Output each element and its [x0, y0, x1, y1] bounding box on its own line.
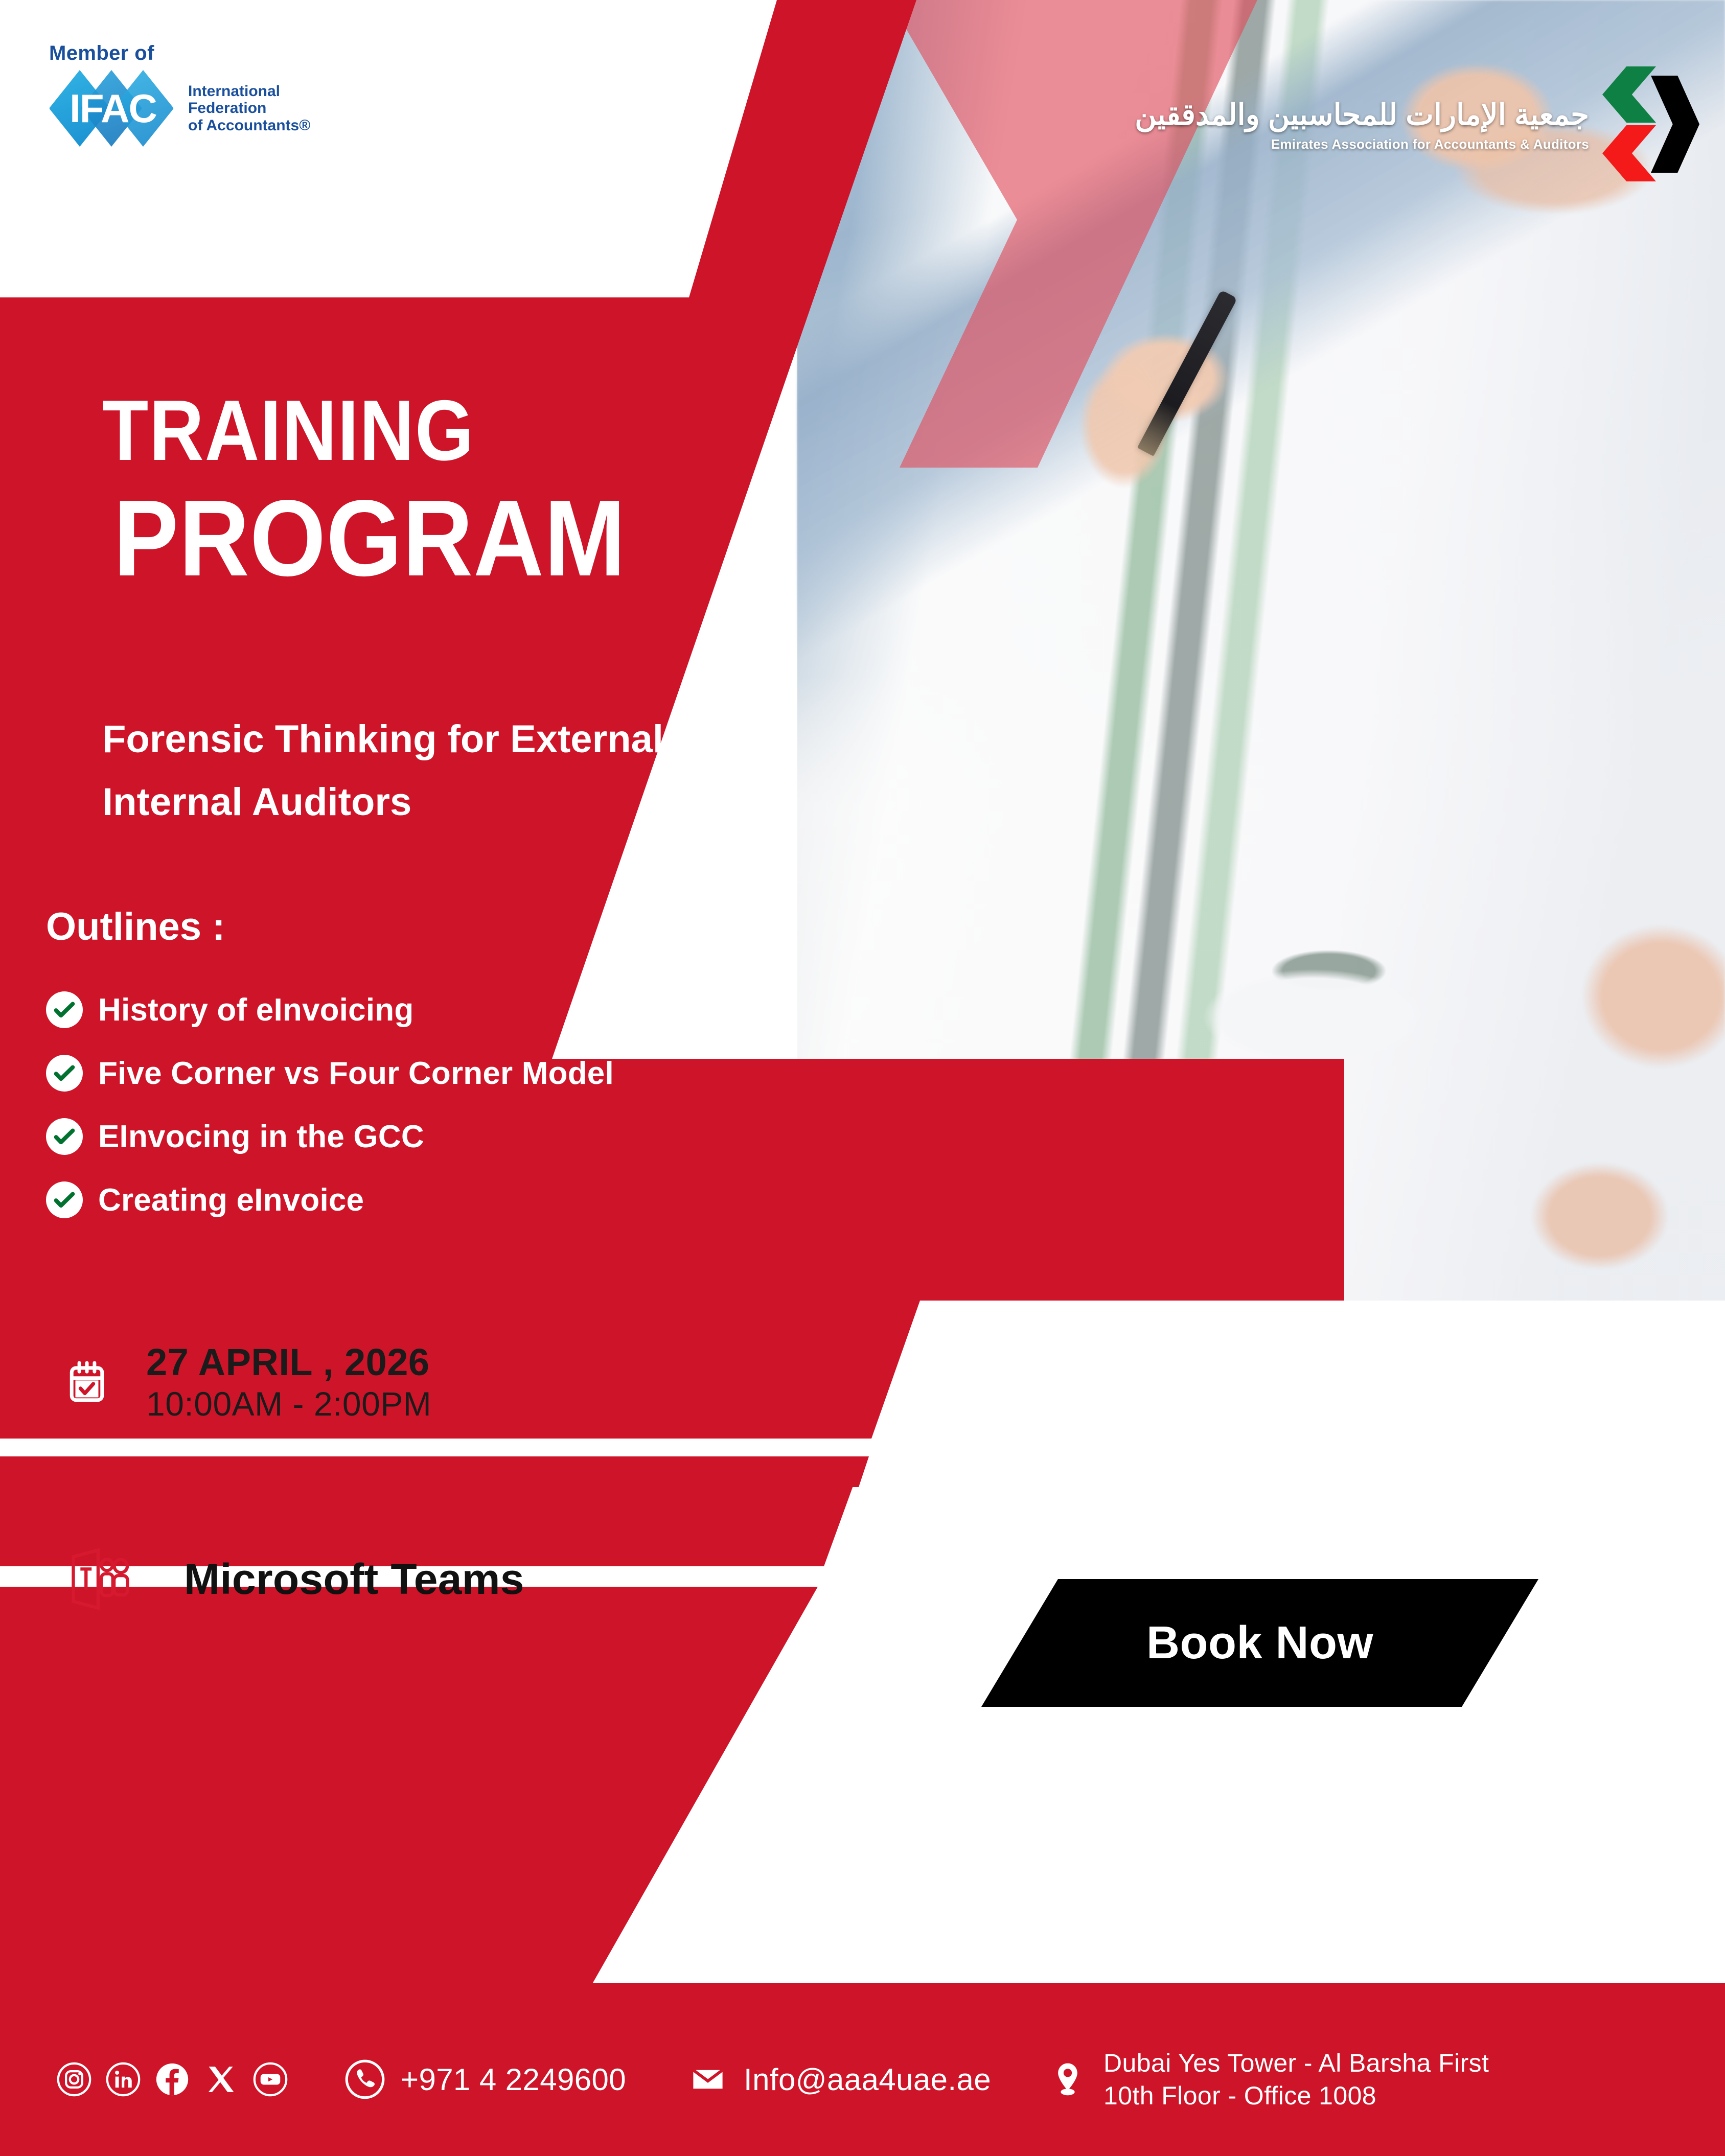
black-arrow-icon [1651, 76, 1699, 173]
facebook-icon[interactable] [154, 2061, 190, 2097]
phone-icon [344, 2059, 385, 2100]
envelope-icon [687, 2059, 728, 2100]
email-address: Info@aaa4uae.ae [744, 2062, 991, 2097]
linkedin-icon[interactable] [105, 2061, 141, 2097]
red-chevron-icon [1602, 125, 1656, 181]
instagram-icon[interactable] [56, 2061, 92, 2097]
phone-contact[interactable]: +971 4 2249600 [344, 2059, 626, 2100]
footer-contact-bar: +971 4 2249600 Info@aaa4uae.ae Dubai Yes… [0, 2003, 1725, 2156]
platform-block: Microsoft Teams [61, 1538, 524, 1620]
ifac-full-name: International Federation of Accountants® [188, 83, 310, 134]
social-links [56, 2061, 288, 2097]
phone-number: +971 4 2249600 [401, 2062, 626, 2097]
check-circle-icon [46, 1118, 83, 1155]
book-now-label: Book Now [1146, 1617, 1373, 1670]
x-icon[interactable] [203, 2061, 239, 2097]
green-chevron-icon [1602, 66, 1656, 123]
ifac-member-of-label: Member of [49, 42, 371, 65]
ifac-petals-icon: IFAC [49, 70, 177, 147]
outlines-list: History of eInvoicing Five Corner vs Fou… [46, 991, 787, 1245]
youtube-icon[interactable] [252, 2061, 288, 2097]
check-circle-icon [46, 991, 83, 1028]
microsoft-teams-icon [61, 1538, 143, 1620]
association-name-arabic: جمعية الإمارات للمحاسبين والمدققين [1135, 98, 1589, 132]
address-text: Dubai Yes Tower - Al Barsha First 10th F… [1103, 2047, 1489, 2112]
outline-item-label: History of eInvoicing [98, 992, 413, 1028]
address-line-2: 10th Floor - Office 1008 [1103, 2081, 1376, 2110]
event-time: 10:00AM - 2:00PM [146, 1384, 431, 1424]
book-now-button[interactable]: Book Now [981, 1579, 1538, 1707]
schedule-block: 27 APRIL , 2026 10:00AM - 2:00PM [51, 1341, 431, 1424]
ifac-name-line-1: International [188, 83, 310, 100]
outlines-heading: Outlines : [46, 905, 225, 949]
association-chevron-mark-icon [1602, 66, 1694, 184]
outline-item-label: Five Corner vs Four Corner Model [98, 1055, 614, 1092]
list-item: Five Corner vs Four Corner Model [46, 1055, 787, 1092]
check-circle-icon [46, 1055, 83, 1092]
list-item: Creating eInvoice [46, 1181, 787, 1218]
email-contact[interactable]: Info@aaa4uae.ae [687, 2059, 991, 2100]
check-circle-icon [46, 1181, 83, 1218]
event-date: 27 APRIL , 2026 [146, 1341, 431, 1384]
association-name-english: Emirates Association for Accountants & A… [1135, 136, 1589, 152]
location-pin-icon [1047, 2059, 1088, 2100]
ifac-name-line-2: Federation [188, 100, 310, 117]
ifac-name-line-3: of Accountants® [188, 117, 310, 134]
outline-item-label: Creating eInvoice [98, 1182, 364, 1218]
list-item: EInvocing in the GCC [46, 1118, 787, 1155]
page-title: TRAINING PROGRAM [102, 388, 828, 593]
ifac-acronym: IFAC [49, 70, 177, 147]
address-contact: Dubai Yes Tower - Al Barsha First 10th F… [1047, 2047, 1489, 2112]
platform-label: Microsoft Teams [184, 1555, 524, 1604]
ifac-member-logo: Member of IFAC International Federation … [49, 42, 371, 154]
title-line-program: PROGRAM [113, 483, 756, 593]
title-line-training: TRAINING [102, 388, 741, 473]
list-item: History of eInvoicing [46, 991, 787, 1028]
association-logo: جمعية الإمارات للمحاسبين والمدققين Emira… [1135, 66, 1694, 184]
calendar-check-icon [51, 1347, 123, 1419]
address-line-1: Dubai Yes Tower - Al Barsha First [1103, 2049, 1489, 2077]
outline-item-label: EInvocing in the GCC [98, 1119, 424, 1155]
page-subtitle: Forensic Thinking for External and Inter… [102, 708, 828, 833]
